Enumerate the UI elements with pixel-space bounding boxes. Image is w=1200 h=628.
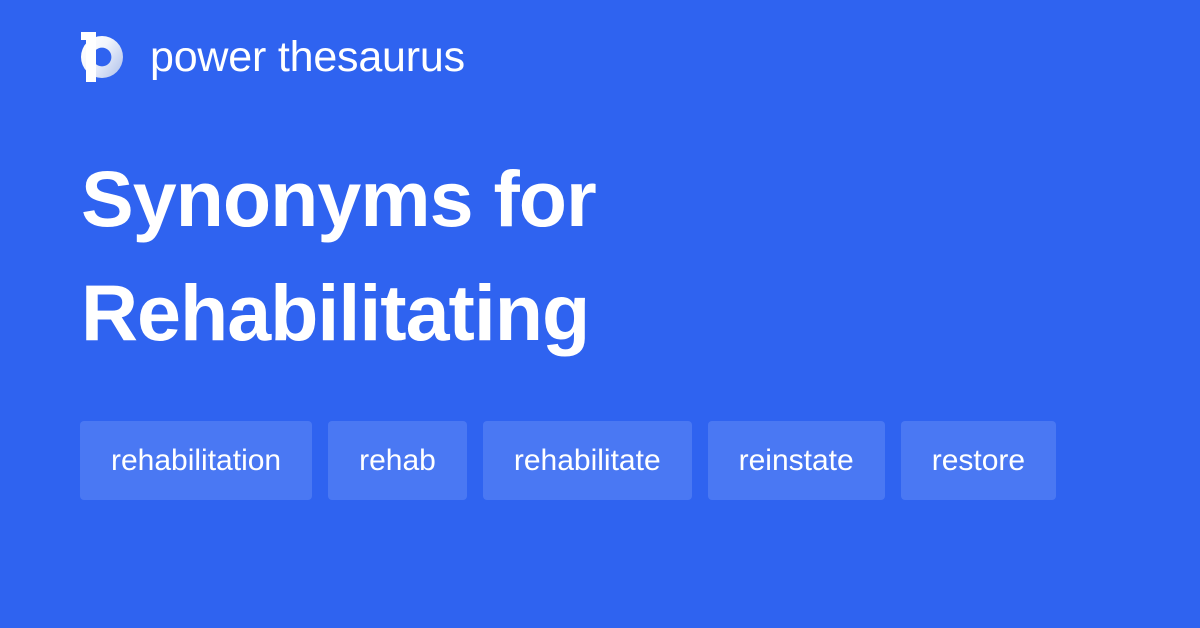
social-card: power thesaurus Synonyms for Rehabilitat… [0,0,1200,628]
synonym-chip-list: rehabilitation rehab rehabilitate reinst… [80,421,1140,500]
synonym-chip[interactable]: rehab [328,421,467,500]
power-thesaurus-b-monogram-icon [81,32,127,82]
synonym-chip[interactable]: rehabilitate [483,421,692,500]
brand-name: power thesaurus [150,36,465,79]
page-title-line-1: Synonyms for [81,142,1121,256]
synonym-chip[interactable]: rehabilitation [80,421,312,500]
synonym-chip[interactable]: restore [901,421,1056,500]
page-title: Synonyms for Rehabilitating [81,142,1121,370]
page-title-line-2: Rehabilitating [81,256,1121,370]
synonym-chip[interactable]: reinstate [708,421,885,500]
brand-header[interactable]: power thesaurus [81,28,465,86]
